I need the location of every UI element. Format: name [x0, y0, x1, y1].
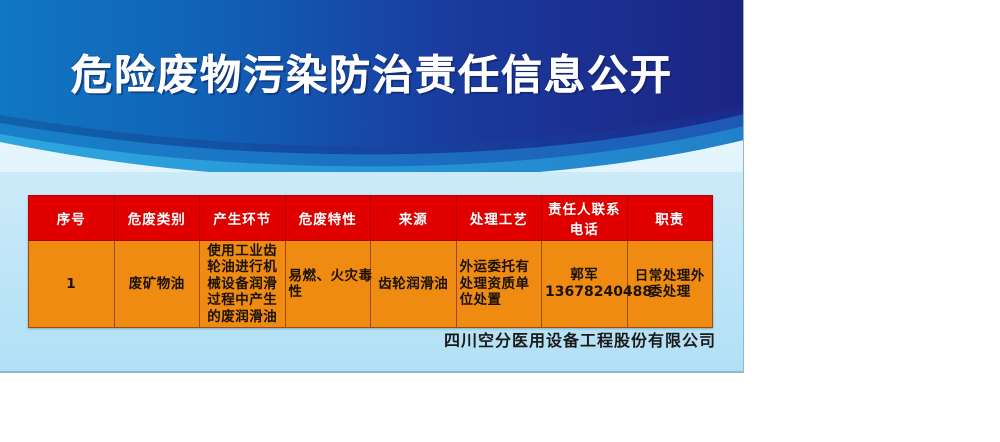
- col-header-process: 处理工艺: [456, 196, 542, 241]
- cell-category: 废矿物油: [114, 241, 200, 328]
- hazardous-waste-table: 序号 危废类别 产生环节 危废特性 来源 处理工艺 责任人联系电话 职责 1 废…: [28, 195, 713, 328]
- col-header-seq: 序号: [29, 196, 115, 241]
- cell-stage-text: 使用工业齿轮油进行机械设备润滑过程中产生的废润滑油: [207, 243, 277, 325]
- cell-process: 外运委托有处理资质单位处置: [456, 241, 542, 328]
- col-header-contact: 责任人联系电话: [542, 196, 628, 241]
- col-header-stage: 产生环节: [200, 196, 286, 241]
- col-header-property: 危废特性: [285, 196, 371, 241]
- cell-process-text: 外运委托有处理资质单位处置: [460, 259, 540, 308]
- contact-phone-number: 13678240488: [545, 284, 624, 301]
- page-title: 危险废物污染防治责任信息公开: [0, 52, 744, 99]
- company-name: 四川空分医用设备工程股份有限公司: [0, 327, 716, 351]
- banner-header: 危险废物污染防治责任信息公开: [0, 0, 744, 172]
- col-header-duty: 职责: [627, 196, 713, 241]
- cell-contact: 郭军 13678240488: [542, 241, 628, 328]
- table-row: 1 废矿物油 使用工业齿轮油进行机械设备润滑过程中产生的废润滑油 易燃、火灾毒性…: [29, 241, 713, 328]
- col-header-source: 来源: [371, 196, 457, 241]
- cell-stage: 使用工业齿轮油进行机械设备润滑过程中产生的废润滑油: [200, 241, 286, 328]
- cell-seq: 1: [29, 241, 115, 328]
- poster-container: 危险废物污染防治责任信息公开 序号 危废类别 产生环节 危废特性 来源 处理工艺…: [0, 0, 744, 373]
- cell-source: 齿轮润滑油: [371, 241, 457, 328]
- contact-person-name: 郭军: [545, 267, 624, 283]
- table-header-row: 序号 危废类别 产生环节 危废特性 来源 处理工艺 责任人联系电话 职责: [29, 196, 713, 241]
- cell-property: 易燃、火灾毒性: [285, 241, 371, 328]
- cell-property-text: 易燃、火灾毒性: [289, 268, 373, 301]
- col-header-category: 危废类别: [114, 196, 200, 241]
